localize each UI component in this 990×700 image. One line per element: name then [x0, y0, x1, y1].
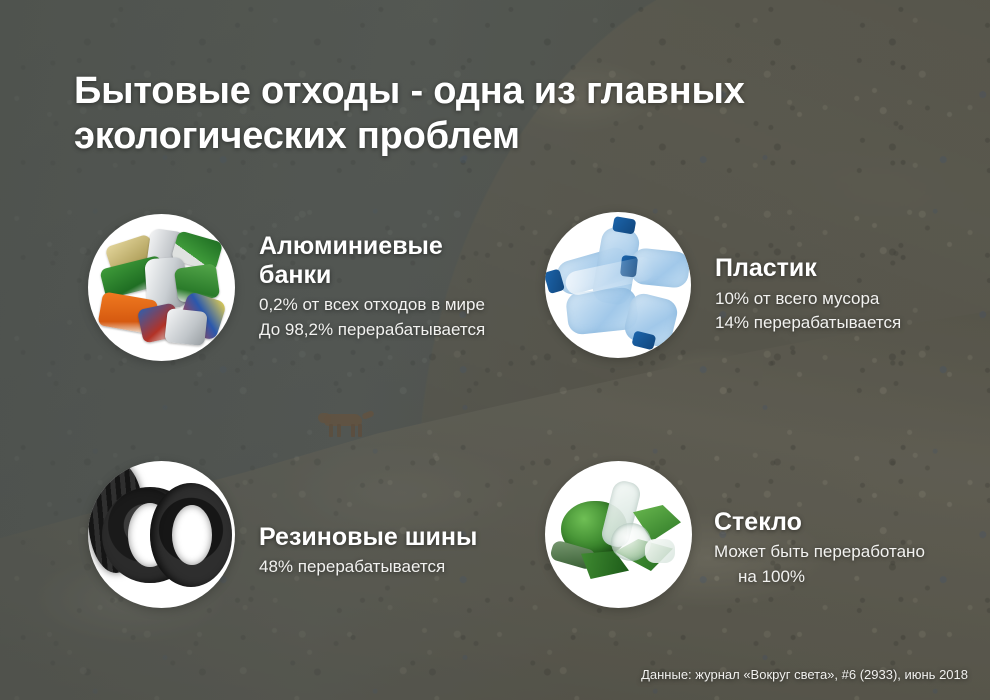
- fact-item-plastic: Пластик 10% от всего мусора 14% перераба…: [545, 212, 901, 358]
- fact-heading: Резиновые шины: [259, 523, 477, 552]
- fact-details: 10% от всего мусора 14% перерабатывается: [715, 287, 901, 336]
- page-title: Бытовые отходы - одна из главных экологи…: [74, 69, 864, 157]
- fact-line: на 100%: [738, 565, 925, 590]
- fact-item-aluminum-cans: Алюминиевые банки 0,2% от всех отходов в…: [88, 214, 485, 361]
- fact-line: 14% перерабатывается: [715, 311, 901, 336]
- tire-hole: [172, 505, 212, 565]
- title-line-2: экологических проблем: [74, 114, 864, 158]
- bottle-cap: [612, 216, 636, 235]
- fact-details: 48% перерабатывается: [259, 555, 477, 580]
- infographic-poster: Бытовые отходы - одна из главных экологи…: [0, 0, 990, 700]
- fact-line: Может быть переработано: [714, 540, 925, 565]
- fact-line: До 98,2% перерабатывается: [259, 318, 485, 343]
- fact-copy: Резиновые шины 48% перерабатывается: [259, 523, 477, 580]
- clear-glass-piece: [645, 539, 675, 563]
- source-credit: Данные: журнал «Вокруг света», #6 (2933)…: [641, 667, 968, 682]
- plastic-bottles-photo: [545, 212, 691, 358]
- fact-item-glass: Стекло Может быть переработано на 100%: [545, 461, 925, 608]
- fact-heading: Стекло: [714, 508, 925, 537]
- fact-copy: Алюминиевые банки 0,2% от всех отходов в…: [259, 232, 485, 342]
- fact-line: 0,2% от всех отходов в мире: [259, 293, 485, 318]
- title-line-1: Бытовые отходы - одна из главных: [74, 70, 745, 112]
- tire-right: [150, 483, 232, 587]
- fact-copy: Пластик 10% от всего мусора 14% перераба…: [715, 254, 901, 336]
- broken-glass-photo: [545, 461, 692, 608]
- rubber-tires-photo: [88, 461, 235, 608]
- fact-line: 48% перерабатывается: [259, 555, 477, 580]
- fact-item-rubber-tires: Резиновые шины 48% перерабатывается: [88, 461, 477, 608]
- fact-line: 10% от всего мусора: [715, 287, 901, 312]
- fact-heading: Пластик: [715, 254, 901, 283]
- bottle-cap: [631, 330, 656, 350]
- fact-heading: Алюминиевые банки: [259, 232, 485, 289]
- fact-details: 0,2% от всех отходов в мире До 98,2% пер…: [259, 293, 485, 342]
- bottle-cap: [545, 269, 565, 295]
- can-silver: [164, 308, 207, 346]
- fact-copy: Стекло Может быть переработано на 100%: [714, 508, 925, 590]
- fact-details: Может быть переработано на 100%: [714, 540, 925, 589]
- aluminum-cans-photo: [88, 214, 235, 361]
